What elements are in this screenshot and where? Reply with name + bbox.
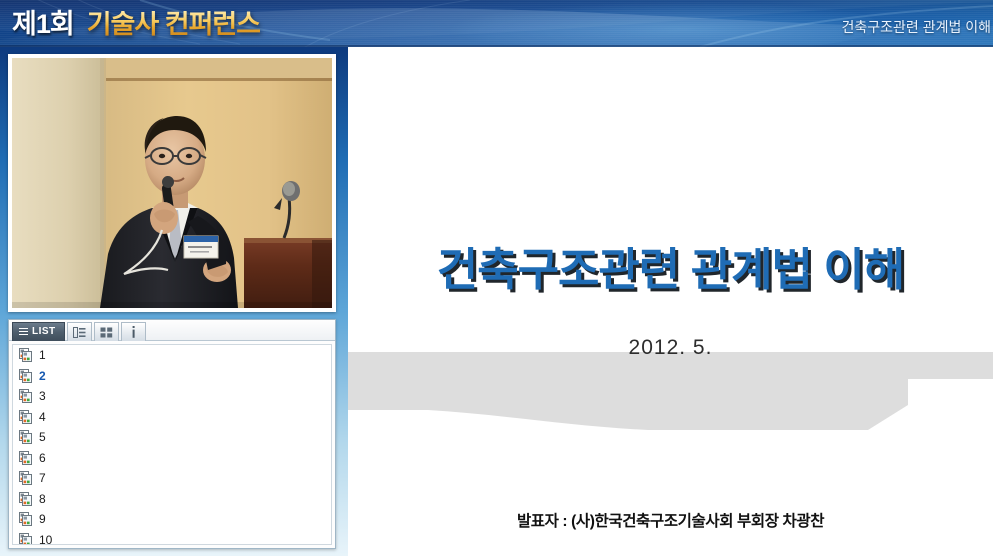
tab-thumbnails[interactable] <box>94 322 119 341</box>
list-item-label: 7 <box>39 472 46 484</box>
list-item[interactable]: 2 <box>13 366 331 387</box>
list-item-label: 8 <box>39 493 46 505</box>
slide-document-icon <box>19 492 32 506</box>
list-panel-tabbar: LIST <box>9 320 335 341</box>
slide-list[interactable]: 1 2 <box>12 344 332 545</box>
slide-presenter: 발표자 : (사)한국건축구조기술사회 부회장 차광찬 <box>348 509 993 531</box>
brand-title: 제1회 기술사 컨퍼런스 <box>12 5 260 43</box>
presentation-viewer: 제1회 기술사 컨퍼런스 건축구조관련 관계법 이해 <box>0 0 993 556</box>
list-item-label: 9 <box>39 513 46 525</box>
brand-conference-name: 기술사 컨퍼런스 <box>87 11 260 38</box>
tab-list-label: LIST <box>32 327 56 337</box>
grid-thumbnails-icon <box>100 327 113 338</box>
list-item[interactable]: 5 <box>13 427 331 448</box>
list-item-label: 6 <box>39 452 46 464</box>
list-item-label: 10 <box>39 534 52 545</box>
video-stage[interactable] <box>12 58 332 308</box>
list-item-label: 4 <box>39 411 46 423</box>
list-item-label: 5 <box>39 431 46 443</box>
slide-document-icon <box>19 369 32 383</box>
hamburger-list-icon <box>19 328 28 336</box>
list-item[interactable]: 1 <box>13 345 331 366</box>
brand-edition-number: 제1회 <box>12 11 74 38</box>
header-lecture-title: 건축구조관련 관계법 이해 <box>842 17 991 37</box>
slide-document-icon <box>19 512 32 526</box>
info-icon <box>130 326 137 338</box>
list-item-label: 1 <box>39 349 46 361</box>
slide-document-icon <box>19 451 32 465</box>
slide-list-panel: LIST <box>8 319 336 549</box>
slide-document-icon <box>19 348 32 362</box>
list-item[interactable]: 9 <box>13 509 331 530</box>
tab-list[interactable]: LIST <box>12 322 65 341</box>
list-item[interactable]: 8 <box>13 489 331 510</box>
list-item[interactable]: 10 <box>13 530 331 546</box>
slide-viewer[interactable]: 건축구조관련 관계법 이해 2012. 5. 발표자 : (사)한국건축구조기술… <box>348 47 993 556</box>
slide-decorative-band <box>348 352 993 447</box>
list-item[interactable]: 6 <box>13 448 331 469</box>
slide-document-icon <box>19 471 32 485</box>
slide-date: 2012. 5. <box>348 336 993 360</box>
list-item-label: 3 <box>39 390 46 402</box>
app-header: 제1회 기술사 컨퍼런스 건축구조관련 관계법 이해 <box>0 0 993 47</box>
slide-document-icon <box>19 430 32 444</box>
list-item[interactable]: 3 <box>13 386 331 407</box>
list-item-label: 2 <box>39 370 46 382</box>
left-sidebar: LIST <box>0 47 348 556</box>
list-item[interactable]: 4 <box>13 407 331 428</box>
slide-document-icon <box>19 533 32 545</box>
slide-title: 건축구조관련 관계법 이해 <box>348 233 993 298</box>
video-player-frame[interactable] <box>8 54 336 312</box>
outline-tree-icon <box>73 327 86 338</box>
slide-document-icon <box>19 410 32 424</box>
speaker-video-still <box>12 58 332 308</box>
list-item[interactable]: 7 <box>13 468 331 489</box>
tab-info[interactable] <box>121 322 146 341</box>
slide-document-icon <box>19 389 32 403</box>
tab-outline[interactable] <box>67 322 92 341</box>
